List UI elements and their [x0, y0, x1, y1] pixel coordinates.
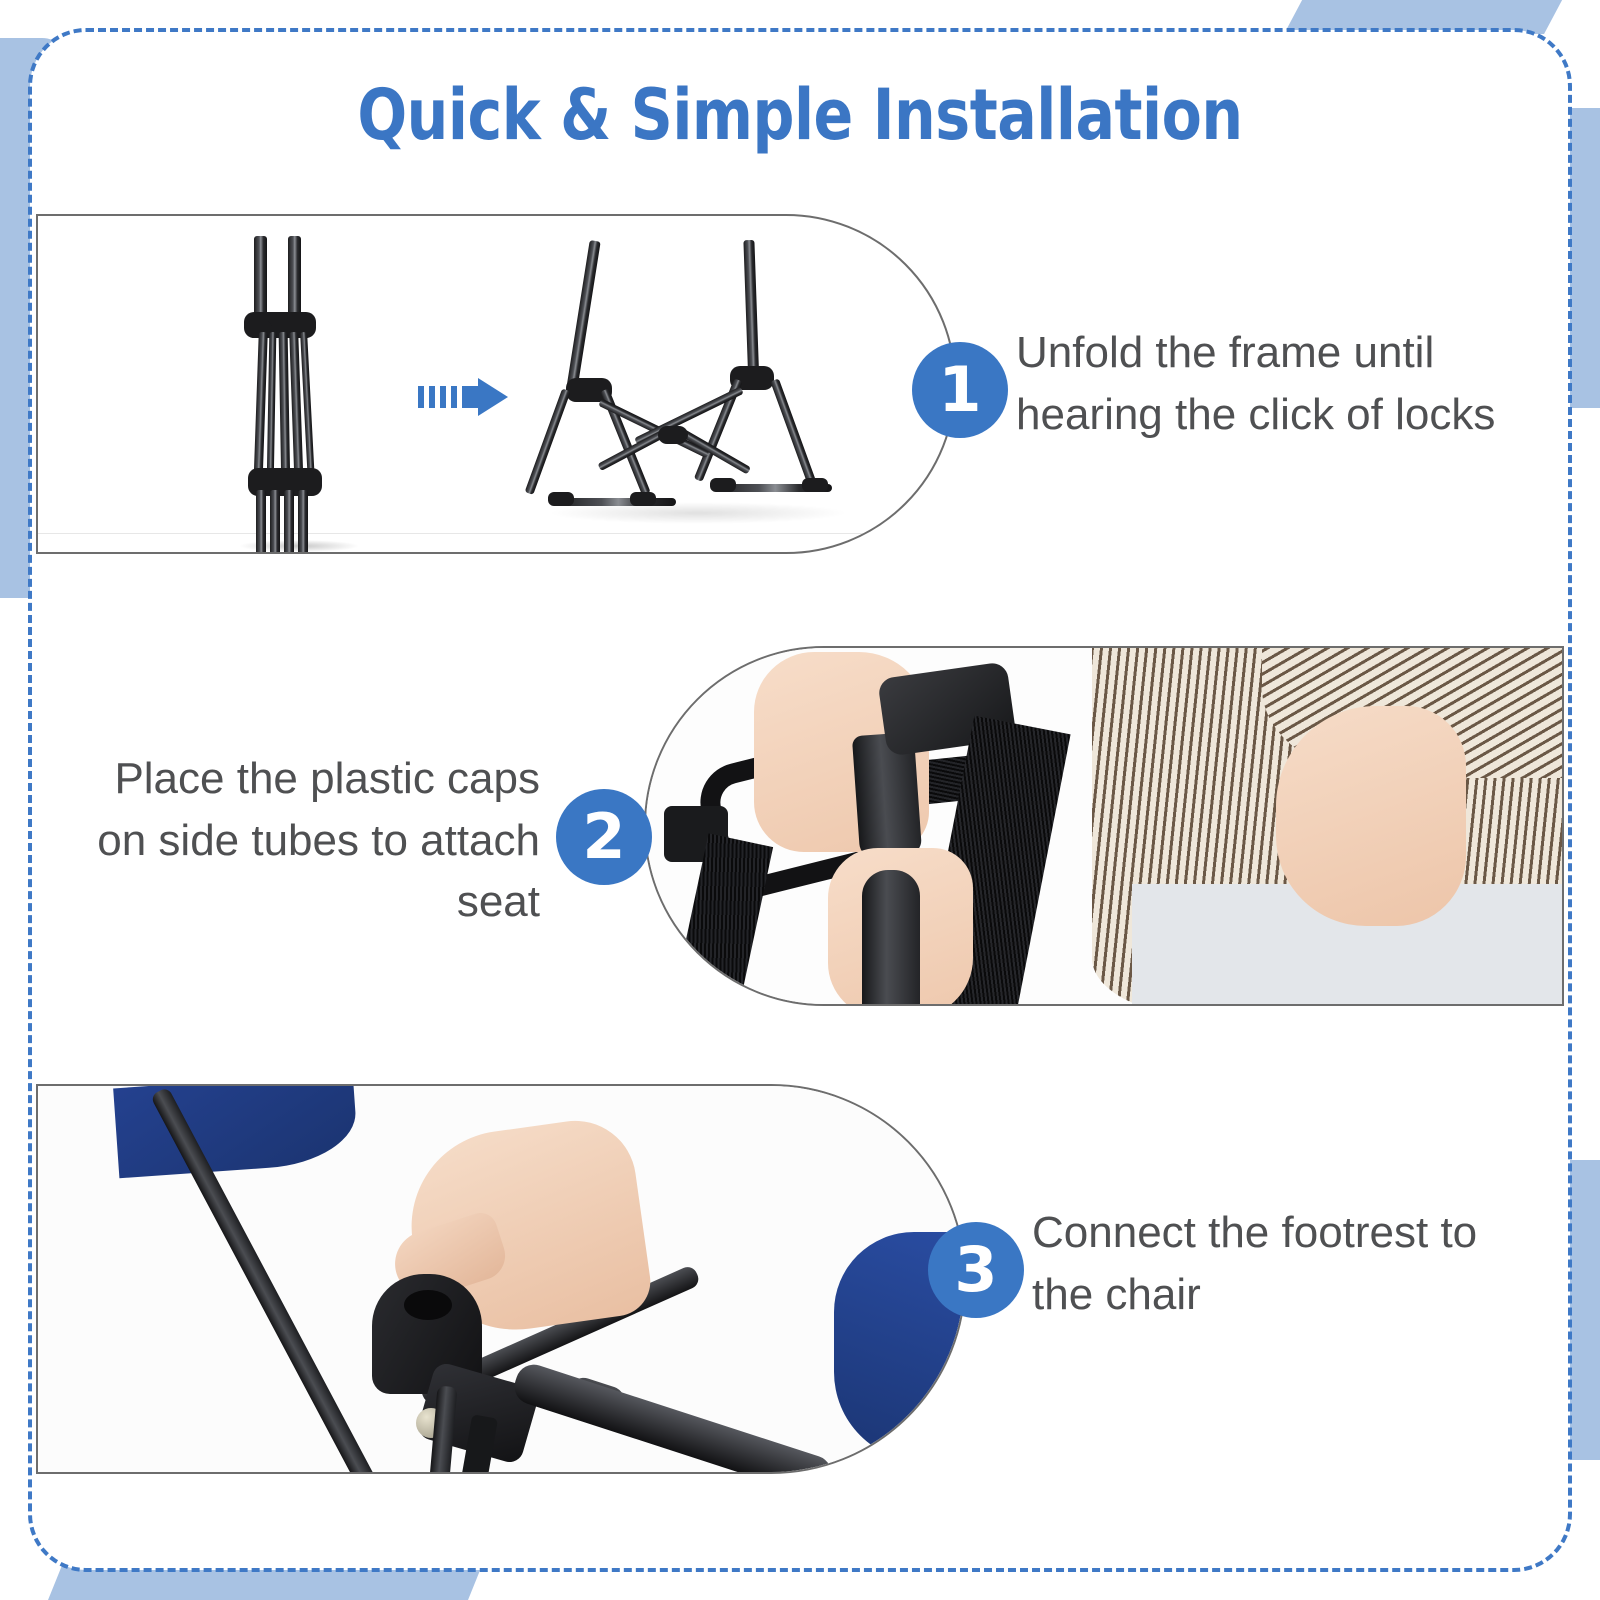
- step-2-text: Place the plastic caps on side tubes to …: [60, 748, 540, 933]
- step-1-text: Unfold the frame until hearing the click…: [1016, 322, 1536, 445]
- decor-shape-right-upper: [1566, 108, 1600, 408]
- joint-socket: [404, 1290, 452, 1320]
- page-title: Quick & Simple Installation: [56, 74, 1544, 156]
- step-2-photo-panel: [644, 646, 1564, 1006]
- step-1-number-badge: 1: [912, 342, 1008, 438]
- forearm: [1276, 706, 1466, 926]
- motion-arrow-icon: [418, 378, 508, 418]
- step-3-photo: [38, 1086, 964, 1472]
- unfolded-frame-photo: [538, 240, 838, 530]
- side-tube-lower: [862, 870, 920, 1006]
- ground-line: [38, 533, 954, 534]
- step-1-photo: [38, 216, 954, 552]
- step-1-photo-panel: [36, 214, 956, 554]
- step-3-number-badge: 3: [928, 1222, 1024, 1318]
- decor-shape-top-right-bar: [1284, 0, 1576, 34]
- step-2-number-badge: 2: [556, 789, 652, 885]
- step-2-photo: [646, 648, 1562, 1004]
- infographic-root: Quick & Simple Installation: [0, 0, 1600, 1600]
- step-3-text: Connect the footrest to the chair: [1032, 1202, 1532, 1325]
- step-3-photo-panel: [36, 1084, 966, 1474]
- folded-frame-photo: [234, 236, 354, 546]
